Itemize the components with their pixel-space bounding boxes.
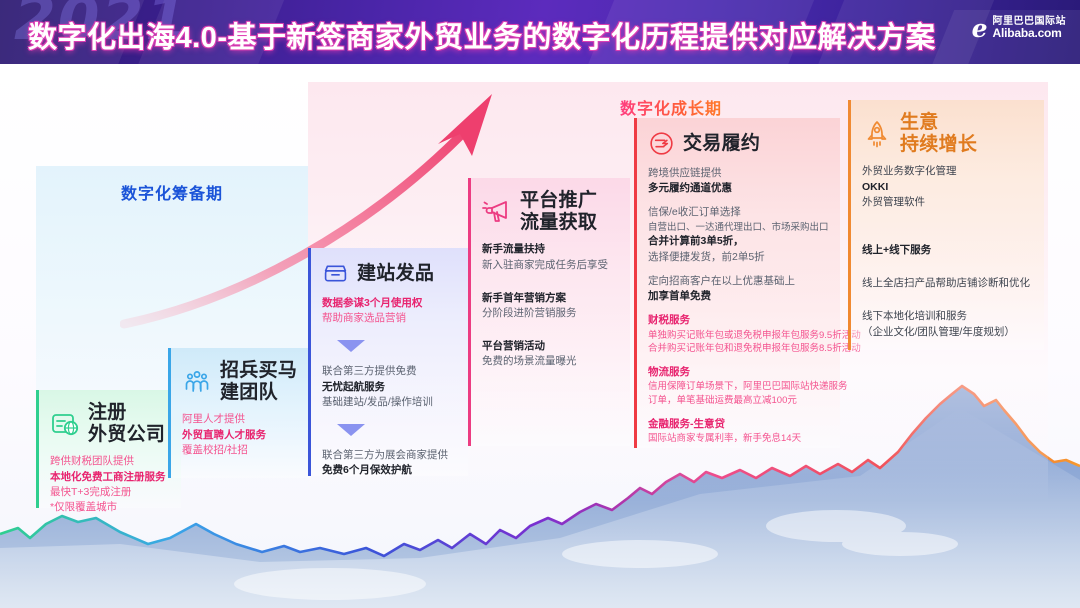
title-bar: 2021 数字化出海4.0-基于新签商家外贸业务的数字化历程提供对应解决方案 e…	[0, 0, 1080, 64]
card-group: 定向招商客户在以上优惠基础上 加享首单免费	[648, 274, 828, 304]
alibaba-logo[interactable]: e 阿里巴巴国际站 Alibaba.com	[972, 16, 1066, 41]
card-group: 新手首年营销方案 分阶段进阶营销服务	[482, 291, 618, 321]
card-line: 订单，单笔基础运费最高立减100元	[648, 394, 828, 408]
storefront-icon	[322, 260, 349, 287]
card-line: 覆盖校招/社招	[182, 443, 298, 458]
card-line: 合并购买记账年包和退免税申报年包服务8.5折活动	[648, 342, 828, 356]
card-group: 物流服务 信用保障订单场景下，阿里巴巴国际站快递服务 订单，单笔基础运费最高立减…	[648, 365, 828, 408]
card-accent-bar	[468, 178, 471, 446]
card-line: 物流服务	[648, 365, 828, 380]
card-line: 免费6个月保效护航	[322, 463, 456, 478]
card-accent-bar	[168, 348, 171, 478]
card-title: 平台推广 流量获取	[520, 190, 597, 233]
alibaba-mark-icon: e	[972, 16, 988, 41]
infographic-poster: 数字化筹备期 数字化成长期 注	[0, 0, 1080, 608]
card-line: 新入驻商家完成任务后享受	[482, 258, 618, 273]
card-title: 注册 外贸公司	[88, 402, 165, 445]
card-business-growth[interactable]: 生意 持续增长 外贸业务数字化管理 OKKI 外贸管理软件 线上+线下服务 线上…	[848, 100, 1044, 350]
card-register-company[interactable]: 注册 外贸公司 跨供财税团队提供 本地化免费工商注册服务 最快T+3完成注册 *…	[36, 390, 181, 508]
card-line: 本地化免费工商注册服务	[50, 470, 169, 485]
card-accent-bar	[848, 100, 851, 350]
card-line: 帮助商家选品营销	[322, 311, 456, 326]
card-line: 信保/e收汇订单选择	[648, 205, 828, 220]
card-group: 联合第三方为展会商家提供 免费6个月保效护航	[322, 448, 456, 478]
card-line: 外贸管理软件	[862, 195, 1032, 210]
card-group: 财税服务 单独购买记账年包或退免税申报年包服务9.5折活动 合并购买记账年包和退…	[648, 313, 828, 356]
card-body: 跨供财税团队提供 本地化免费工商注册服务 最快T+3完成注册 *仅限覆盖城市	[50, 454, 169, 515]
page-title: 数字化出海4.0-基于新签商家外贸业务的数字化历程提供对应解决方案	[28, 14, 935, 56]
card-title: 交易履约	[683, 133, 760, 155]
card-line: 平台营销活动	[482, 339, 618, 354]
card-line: 阿里人才提供	[182, 412, 298, 427]
card-line: 基础建站/发品/操作培训	[322, 395, 456, 410]
card-line: 合并计算前3单5折，	[648, 234, 828, 249]
card-accent-bar	[634, 118, 637, 448]
card-line: 线上全店扫产品帮助店铺诊断和优化	[862, 276, 1032, 291]
card-line: 外贸业务数字化管理	[862, 164, 1032, 179]
card-group: 外贸业务数字化管理 OKKI 外贸管理软件	[862, 164, 1032, 210]
card-line: 国际站商家专属利率，新手免息14天	[648, 432, 828, 446]
card-group: 线上+线下服务	[862, 243, 1032, 258]
card-accent-bar	[308, 248, 311, 476]
megaphone-icon	[482, 197, 512, 227]
card-group: 信保/e收汇订单选择 自营出口、一达通代理出口、市场采购出口 合并计算前3单5折…	[648, 205, 828, 264]
card-line: 外贸直聘人才服务	[182, 428, 298, 443]
card-group: 平台营销活动 免费的场景流量曝光	[482, 339, 618, 369]
card-recruit-team[interactable]: 招兵买马 建团队 阿里人才提供 外贸直聘人才服务 覆盖校招/社招	[168, 348, 310, 478]
card-header: 生意 持续增长	[862, 112, 1032, 155]
card-line: 跨境供应链提供	[648, 166, 828, 181]
card-line: 信用保障订单场景下，阿里巴巴国际站快递服务	[648, 380, 828, 394]
card-group: 线上全店扫产品帮助店铺诊断和优化	[862, 276, 1032, 291]
card-title: 招兵买马 建团队	[220, 360, 297, 403]
card-line: 最快T+3完成注册	[50, 485, 169, 500]
card-group: 线下本地化培训和服务 （企业文化/团队管理/年度规划）	[862, 309, 1032, 339]
card-body: 阿里人才提供 外贸直聘人才服务 覆盖校招/社招	[182, 412, 298, 458]
card-header: 注册 外贸公司	[50, 402, 169, 445]
handshake-circle-icon	[648, 130, 675, 157]
rocket-icon	[862, 119, 892, 149]
card-header: 建站发品	[322, 260, 456, 287]
card-line: 联合第三方提供免费	[322, 364, 456, 379]
card-line: 线上+线下服务	[862, 243, 1032, 258]
card-line: *仅限覆盖城市	[50, 500, 169, 515]
card-line: 联合第三方为展会商家提供	[322, 448, 456, 463]
card-line: 财税服务	[648, 313, 828, 328]
card-line: 数据参谋3个月使用权	[322, 296, 456, 311]
arrow-down-icon	[322, 338, 456, 354]
card-line: 选择便捷发货，前2单5折	[648, 250, 828, 265]
card-line: 新手首年营销方案	[482, 291, 618, 306]
id-card-globe-icon	[50, 409, 80, 439]
card-group: 跨境供应链提供 多元履约通道优惠	[648, 166, 828, 196]
card-line: （企业文化/团队管理/年度规划）	[862, 325, 1032, 340]
card-header: 平台推广 流量获取	[482, 190, 618, 233]
card-line: 单独购买记账年包或退免税申报年包服务9.5折活动	[648, 329, 828, 343]
card-accent-bar	[36, 390, 39, 508]
card-line: OKKI	[862, 180, 1032, 195]
card-platform-promotion[interactable]: 平台推广 流量获取 新手流量扶持 新入驻商家完成任务后享受 新手首年营销方案 分…	[468, 178, 630, 446]
card-header: 交易履约	[648, 130, 828, 157]
card-line: 线下本地化培训和服务	[862, 309, 1032, 324]
card-group: 新手流量扶持 新入驻商家完成任务后享受	[482, 242, 618, 272]
card-group: 金融服务-生意贷 国际站商家专属利率，新手免息14天	[648, 417, 828, 446]
people-group-icon	[182, 367, 212, 397]
card-line: 跨供财税团队提供	[50, 454, 169, 469]
card-line: 新手流量扶持	[482, 242, 618, 257]
card-line: 加享首单免费	[648, 289, 828, 304]
card-line: 自营出口、一达通代理出口、市场采购出口	[648, 221, 828, 235]
card-line: 分阶段进阶营销服务	[482, 306, 618, 321]
card-header: 招兵买马 建团队	[182, 360, 298, 403]
card-line: 金融服务-生意贷	[648, 417, 828, 432]
card-line: 无忧起航服务	[322, 380, 456, 395]
card-group: 联合第三方提供免费 无忧起航服务 基础建站/发品/操作培训	[322, 364, 456, 410]
card-title: 生意 持续增长	[900, 112, 977, 155]
card-title: 建站发品	[357, 263, 434, 285]
card-line: 定向招商客户在以上优惠基础上	[648, 274, 828, 289]
arrow-down-icon	[322, 422, 456, 438]
logo-text-en: Alibaba.com	[993, 27, 1067, 40]
card-group: 数据参谋3个月使用权 帮助商家选品营销	[322, 296, 456, 326]
card-line: 免费的场景流量曝光	[482, 354, 618, 369]
card-line: 多元履约通道优惠	[648, 181, 828, 196]
card-trade-fulfillment[interactable]: 交易履约 跨境供应链提供 多元履约通道优惠 信保/e收汇订单选择 自营出口、一达…	[634, 118, 840, 448]
card-build-site[interactable]: 建站发品 数据参谋3个月使用权 帮助商家选品营销 联合第三方提供免费 无忧起航服…	[308, 248, 468, 476]
phase-label-growth: 数字化成长期	[620, 95, 722, 119]
